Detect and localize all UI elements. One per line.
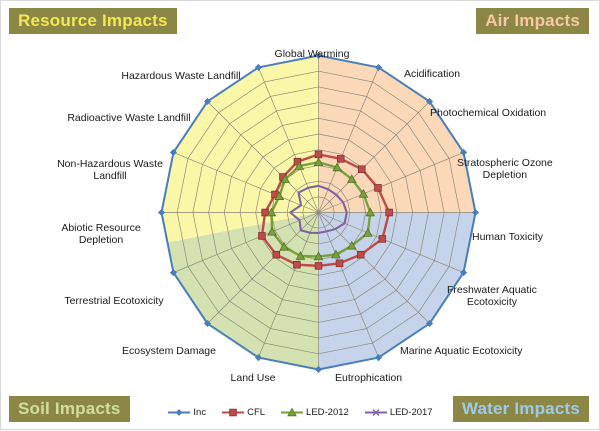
legend-label: LED-2012 bbox=[306, 407, 349, 418]
legend-item-cfl[interactable]: CFL bbox=[221, 407, 265, 418]
axis-label-stratospheric-ozone: Stratospheric Ozone Depletion bbox=[457, 158, 553, 182]
legend-swatch-triangle-icon bbox=[280, 407, 304, 418]
chart-legend: IncCFLLED-2012LED-2017 bbox=[1, 403, 599, 421]
axis-label-marine-aquatic-ecotoxicity: Marine Aquatic Ecotoxicity bbox=[400, 346, 523, 358]
banner-resource-impacts: Resource Impacts bbox=[9, 8, 177, 34]
legend-item-led-2017[interactable]: LED-2017 bbox=[364, 407, 433, 418]
legend-item-inc[interactable]: Inc bbox=[167, 407, 206, 418]
legend-swatch-square-icon bbox=[221, 407, 245, 418]
legend-swatch-x-icon bbox=[364, 407, 388, 418]
axis-label-acidification: Acidification bbox=[404, 69, 460, 81]
axis-label-freshwater-aquatic: Freshwater Aquatic Ecotoxicity bbox=[447, 285, 537, 309]
legend-label: LED-2017 bbox=[390, 407, 433, 418]
axis-label-non-hazardous-waste: Non-Hazardous Waste Landfill bbox=[57, 159, 163, 183]
axis-label-global-warming: Global Warming bbox=[275, 49, 350, 61]
legend-swatch-diamond-icon bbox=[167, 407, 191, 418]
banner-air-impacts: Air Impacts bbox=[476, 8, 589, 34]
legend-item-led-2012[interactable]: LED-2012 bbox=[280, 407, 349, 418]
legend-label: Inc bbox=[193, 407, 206, 418]
chart-frame: Resource Impacts Air Impacts Soil Impact… bbox=[0, 0, 600, 430]
axis-label-human-toxicity: Human Toxicity bbox=[472, 232, 543, 244]
legend-label: CFL bbox=[247, 407, 265, 418]
axis-label-terrestrial-ecotoxicity: Terrestrial Ecotoxicity bbox=[64, 296, 163, 308]
axis-label-photochemical-oxidation: Photochemical Oxidation bbox=[430, 108, 546, 120]
axis-label-ecosystem-damage: Ecosystem Damage bbox=[122, 346, 216, 358]
axis-label-eutrophication: Eutrophication bbox=[335, 373, 402, 385]
axis-label-land-use: Land Use bbox=[231, 373, 276, 385]
axis-label-hazardous-waste-landfill: Hazardous Waste Landfill bbox=[121, 71, 240, 83]
axis-label-radioactive-waste-landfill: Radioactive Waste Landfill bbox=[67, 113, 190, 125]
axis-label-abiotic-resource: Abiotic Resource Depletion bbox=[61, 223, 140, 247]
radar-plot bbox=[1, 1, 600, 431]
